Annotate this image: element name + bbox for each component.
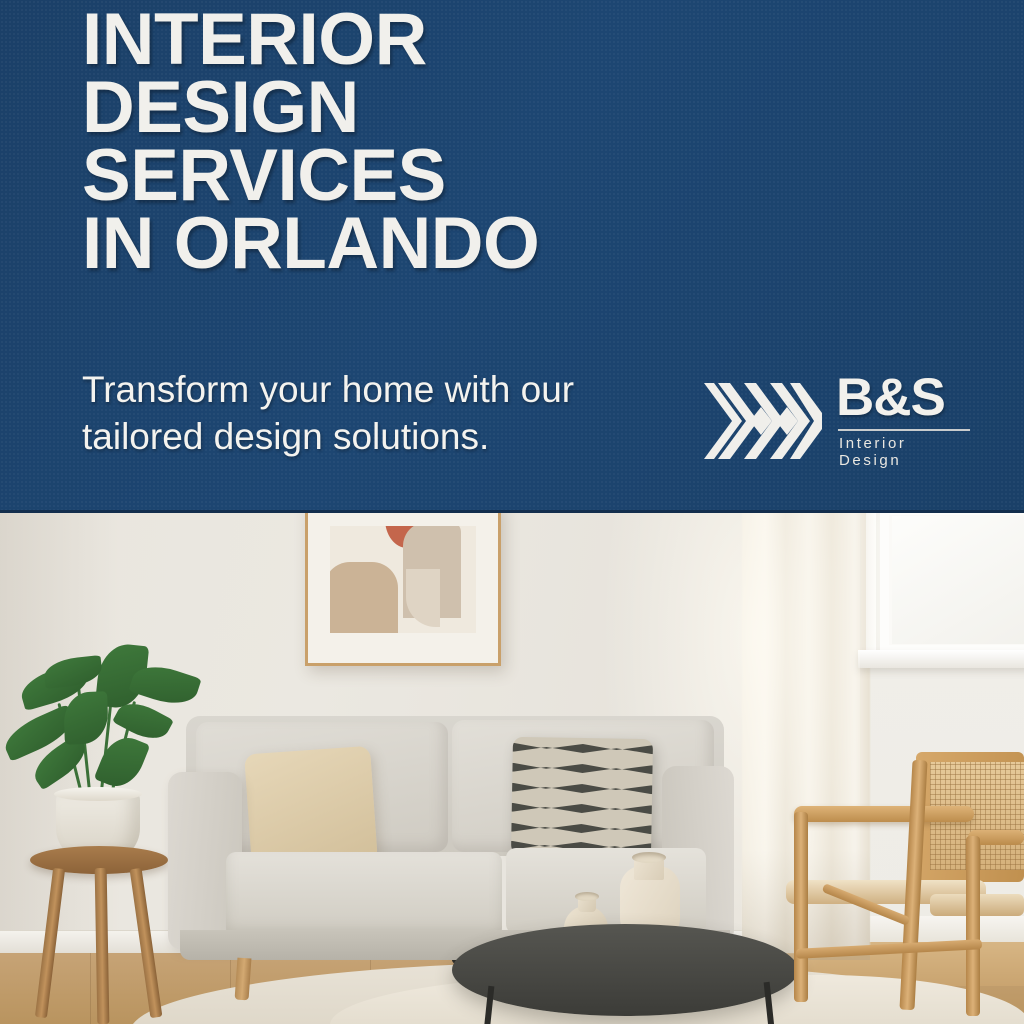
plant-pot-rim [54,787,142,801]
logo-tagline: Interior Design [836,435,970,469]
ceramic-vase-small-lip [575,892,599,901]
subtitle-line-1: Transform your home with our [82,366,722,413]
coffee-table [452,924,798,1016]
framed-abstract-art [305,503,501,666]
sofa-seat-cushion [226,852,502,938]
headline-line-3: SERVICES [82,142,722,210]
subtitle-line-2: tailored design solutions. [82,413,722,460]
subtitle: Transform your home with our tailored de… [82,366,722,461]
chevron-pillow [511,737,653,857]
art-shape-left [330,562,398,633]
window-casing [866,502,876,658]
poster: INTERIOR DESIGN SERVICES IN ORLANDO Tran… [0,0,1024,1024]
window-glass [892,516,1024,644]
headline-line-4: IN ORLANDO [82,210,722,278]
sofa-leg [235,958,252,1001]
rattan-armchair-leg [966,836,980,1016]
rattan-armchair-arm [794,806,974,822]
hero-banner: INTERIOR DESIGN SERVICES IN ORLANDO Tran… [0,0,1024,513]
rattan-armchair-leg [794,812,808,1002]
logo-divider [838,429,970,431]
art-shape-curve [406,569,440,627]
headline-line-2: DESIGN [82,74,722,142]
window-sill [858,650,1024,668]
logo-name: B&S [836,373,970,423]
page-title: INTERIOR DESIGN SERVICES IN ORLANDO [82,6,722,278]
diamond-chevron-mark [704,383,822,459]
ceramic-vase-large-lip [632,852,666,863]
headline-line-1: INTERIOR [82,6,722,74]
brand-logo[interactable]: B&S Interior Design [704,372,970,470]
